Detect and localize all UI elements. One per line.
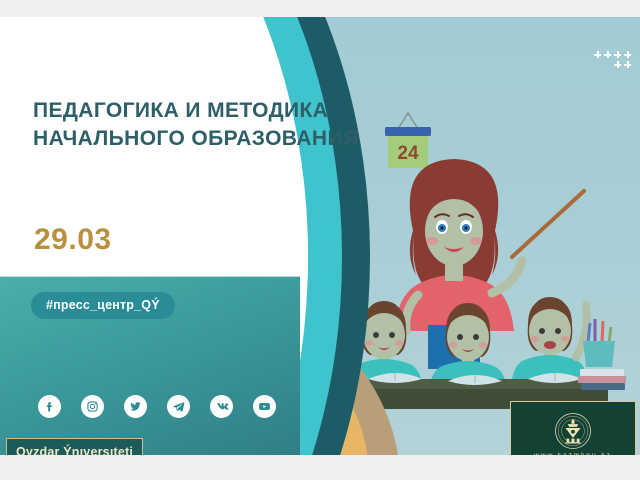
left-teal-panel bbox=[0, 249, 300, 455]
facebook-icon[interactable] bbox=[38, 395, 61, 418]
event-date: 29.03 bbox=[34, 223, 112, 257]
university-plate: Qyzdar Ýnıversıteti bbox=[6, 438, 143, 455]
vk-icon[interactable] bbox=[210, 395, 233, 418]
university-logo-card: www.kazmkpu.kz bbox=[510, 401, 636, 455]
slide-stage: 24 bbox=[0, 0, 640, 480]
plus-icon bbox=[594, 51, 601, 58]
letterbox-top bbox=[0, 0, 640, 17]
book-stack bbox=[578, 369, 626, 390]
calendar-icon: 24 bbox=[385, 113, 431, 168]
plus-icon bbox=[624, 51, 631, 58]
pointer-stick bbox=[512, 191, 584, 257]
svg-text:24: 24 bbox=[397, 143, 419, 164]
instagram-icon[interactable] bbox=[81, 395, 104, 418]
twitter-icon[interactable] bbox=[124, 395, 147, 418]
hashtag-label: #пресс_центр_QÝ bbox=[46, 298, 160, 312]
university-plate-label: Qyzdar Ýnıversıteti bbox=[16, 445, 133, 455]
social-links bbox=[38, 395, 276, 418]
letterbox-bottom bbox=[0, 455, 640, 480]
youtube-icon[interactable] bbox=[253, 395, 276, 418]
presentation-slide: 24 bbox=[0, 17, 640, 455]
page-title: ПЕДАГОГИКА И МЕТОДИКА НАЧАЛЬНОГО ОБРАЗОВ… bbox=[33, 97, 363, 152]
telegram-icon[interactable] bbox=[167, 395, 190, 418]
plus-icon bbox=[604, 51, 611, 58]
decorative-plus-grid bbox=[594, 51, 634, 73]
plus-icon bbox=[614, 51, 621, 58]
plus-icon bbox=[614, 61, 621, 68]
hashtag-badge[interactable]: #пресс_центр_QÝ bbox=[31, 292, 175, 319]
university-emblem-icon bbox=[554, 412, 592, 450]
plus-icon bbox=[624, 61, 631, 68]
